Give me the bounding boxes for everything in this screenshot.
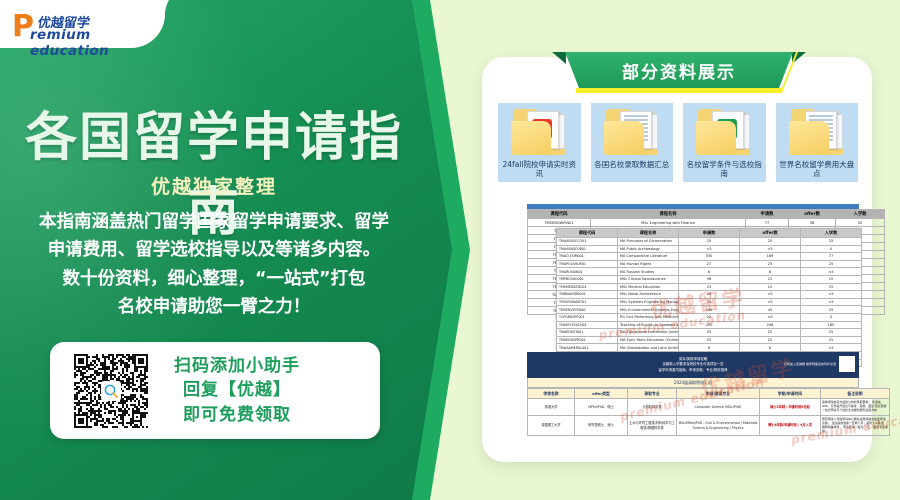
table-cell: 25 — [801, 306, 862, 314]
table-cell: MSc Environmental Systems Engineering — [618, 306, 679, 314]
table-cell: 博士4年制/申请时间 / 9月入学 — [760, 415, 821, 436]
qr-code[interactable] — [74, 354, 148, 428]
table-cell: 25 — [679, 313, 740, 321]
table-cell: <5 — [801, 268, 862, 276]
table-row: 帝国理工大学研究型硕士、博士土木与环境工程类/材料科学与工程类/物理科学类MSc… — [528, 415, 890, 436]
table-cell: 25 — [679, 336, 740, 344]
table-row: TMAEDUSTA01MA Educational Leadership (In… — [557, 329, 862, 337]
table-cell: 25 — [740, 336, 801, 344]
table-row: TMSMEDSEDU01MSc Medical Education252525 — [557, 283, 862, 291]
spreadsheet-admissions: 英本/英硕申请攻略 含最新入学要求及院校专业可选项目一览 留学申请避坑指南、申请… — [527, 352, 859, 436]
column-header: offer数 — [789, 210, 836, 219]
folder-item[interactable]: P24fall院校申请实时资讯 — [498, 103, 581, 182]
table-cell: 45 — [740, 306, 801, 314]
table-cell: Computer Science (MSc/PhD) — [677, 399, 760, 416]
table-cell: MA Comparative Literature — [618, 253, 679, 261]
table-cell: <5 — [740, 313, 801, 321]
table-cell: 6 — [740, 344, 801, 352]
table-row: TMAARUSFCO01MA Principles of Conservatio… — [557, 238, 862, 246]
qr-line-3: 即可免费领取 — [174, 403, 300, 427]
table-cell: <5 — [801, 291, 862, 299]
mini-qr-icon — [839, 356, 855, 372]
table-cell: 25 — [679, 329, 740, 337]
table-cell: 540 — [679, 306, 740, 314]
column-header: 申请数 — [679, 229, 740, 238]
table-cell: 25 — [740, 238, 801, 246]
table-cell: 56 — [679, 275, 740, 283]
folder-label: 名校留学条件与选校指南 — [685, 160, 763, 178]
table-cell: TMSMEDSEDU01 — [557, 283, 618, 291]
column-header: 入学数 — [836, 210, 885, 219]
table-cell: 22 — [740, 275, 801, 283]
table-cell: 38 — [789, 219, 836, 227]
table-cell: TMAEFLTEACH01 — [557, 321, 618, 329]
column-header: 申请/就读专业 — [677, 389, 760, 399]
table-cell: 0 — [801, 245, 862, 253]
table-header-row: 学校名称offer类型录取专业申请/就读专业学制/申请时间备注说明 — [528, 389, 890, 399]
table-cell: <5 — [740, 245, 801, 253]
body-copy-line: 申请费用、留学选校指导以及等诸多内容。 — [8, 236, 420, 264]
table-header-row: 课程代码课程名称申请数offer数入学数 — [557, 229, 862, 238]
table-cell: <5 — [740, 291, 801, 299]
table-cell: TMPBCSNO001 — [557, 275, 618, 283]
wechat-logo-icon — [101, 381, 121, 401]
table-cell: 研究型硕士、博士 — [575, 415, 628, 436]
table-cell: 25 — [679, 238, 740, 246]
table-cell: TMSENVSYM001 — [557, 306, 618, 314]
table-cell: <5 — [801, 344, 862, 352]
folder-label: 各国名校录取数据汇总 — [593, 160, 671, 169]
folder-icon — [789, 109, 845, 157]
table-cell: MA Globalisation and Latin American Deve… — [618, 344, 679, 352]
qr-line-1: 扫码添加小助手 — [174, 354, 300, 378]
folder-list: P24fall院校申请实时资讯各国名校录取数据汇总S名校留学条件与选校指南世界名… — [498, 103, 858, 182]
qr-card[interactable]: 扫码添加小助手 回复【优越】 即可免费领取 — [50, 342, 380, 439]
column-header: offer数 — [740, 229, 801, 238]
table-row: TMAPOLSHUR01MA Human Rights272525 — [557, 260, 862, 268]
table-cell: 0 — [801, 313, 862, 321]
table-row: TMBNAVSRB001MSc Naval Architecture28<5<5 — [557, 291, 862, 299]
table-row: TMSSYSWANT01MSc Systems Engineering Mana… — [557, 298, 862, 306]
body-copy-line: 名校申请助您一臂之力！ — [8, 293, 420, 321]
table-row: TMSENGWFIN01MSc Engineering with Finance… — [528, 219, 885, 227]
body-copy-line: 本指南涵盖热门留学国家留学申请要求、留学 — [8, 208, 420, 236]
body-copy: 本指南涵盖热门留学国家留学申请要求、留学 申请费用、留学选校指导以及等诸多内容。… — [8, 208, 420, 321]
admissions-banner: 英本/英硕申请攻略 含最新入学要求及院校专业可选项目一览 留学申请避坑指南、申请… — [527, 352, 859, 378]
table-cell: TMAPOLSHUR01 — [557, 260, 618, 268]
table-cell: 298 — [740, 321, 801, 329]
table-cell: 25 — [801, 238, 862, 246]
column-header: 课程名称 — [618, 229, 679, 238]
table-cell: TMSSYSWANT01 — [557, 298, 618, 306]
section-title-ribbon: 部分资料展示 — [565, 52, 793, 88]
table-row: TMSENVSYM001MSc Environmental Systems En… — [557, 306, 862, 314]
table-cell: 25 — [740, 283, 801, 291]
table-cell: MSc Medical Education — [618, 283, 679, 291]
table-row: TMAEDUSPR001MA Early Years Education (On… — [557, 336, 862, 344]
table-cell: <5 — [740, 298, 801, 306]
table-cell: MSc Naval Architecture — [618, 291, 679, 299]
table-cell: TMARUSSIN01 — [557, 268, 618, 276]
qr-instructions: 扫码添加小助手 回复【优越】 即可免费领取 — [174, 354, 300, 426]
table-cell: 15 — [801, 275, 862, 283]
folder-label: 世界名校留学费用大盘点 — [778, 160, 856, 178]
table-cell: MA Public Archaeology — [618, 245, 679, 253]
brand-logo: P 优越留学 remium education — [12, 10, 152, 46]
folder-icon — [604, 109, 660, 157]
table-cell: 25 — [801, 260, 862, 268]
table-cell: <5 — [679, 245, 740, 253]
admissions-banner-line: 留学申请避坑指南、申请流程、专业/院校推荐 — [659, 368, 728, 373]
table-cell: 25 — [740, 260, 801, 268]
folder-item[interactable]: 各国名校录取数据汇总 — [591, 103, 674, 182]
admissions-banner-side: 扫码加入咨询群 留学预备名校同步交流 — [784, 356, 855, 372]
table-cell: MSc Clinical Neuroscience — [618, 275, 679, 283]
table-cell: MA Human Rights — [618, 260, 679, 268]
table-cell: 帝国理工大学 — [528, 415, 575, 436]
table-cell: 34 — [679, 298, 740, 306]
table-cell: 6 — [679, 344, 740, 352]
column-header: 申请数 — [746, 210, 789, 219]
table-cell: 25 — [801, 283, 862, 291]
column-header: 备注说明 — [821, 389, 890, 399]
table-cell: 所有申请人须在申请中心网站注册并提交在线申请表格， 建议提前准备一至两个月；需附… — [821, 415, 890, 436]
folder-item[interactable]: S名校留学条件与选校指南 — [683, 103, 766, 182]
column-header: 课程名称 — [591, 210, 746, 219]
admissions-title: 2024届录取院校汇总 — [527, 378, 859, 388]
table-row: TMPBCSNO001MSc Clinical Neuroscience5622… — [557, 275, 862, 283]
table-row: TMAAAMERSLA01MA Globalisation and Latin … — [557, 344, 862, 352]
table-cell: TCPGBDSPF001 — [557, 313, 618, 321]
table-cell: 硕士2年制 / 申请时间9月起 — [760, 399, 821, 416]
column-header: 学校名称 — [528, 389, 575, 399]
page-subtitle: 优越独家整理 — [0, 172, 428, 199]
table-row: TMARUSSIN01MA Russian Studies66<5 — [557, 268, 862, 276]
table-cell: TMAO-TSIM001 — [557, 253, 618, 261]
folder-icon: S — [696, 109, 752, 157]
table-cell: MA Principles of Conservation — [618, 238, 679, 246]
table-cell: TMAEDUSTA01 — [557, 329, 618, 337]
table-cell: PG Cert Performing Arts Medicine (Online… — [618, 313, 679, 321]
table-cell: MSc/MRes/PhD - Civil & Environmental / M… — [677, 415, 760, 436]
column-header: 入学数 — [801, 229, 862, 238]
table-cell: MA Russian Studies — [618, 268, 679, 276]
table-cell: 25 — [740, 329, 801, 337]
table-cell: TMBNAVSRB001 — [557, 291, 618, 299]
table-cell: 28 — [679, 291, 740, 299]
table-cell: 25 — [679, 283, 740, 291]
table-cell: 27 — [679, 260, 740, 268]
column-header: 学制/申请时间 — [760, 389, 821, 399]
body-copy-line: 数十份资料，细心整理，“一站式”打包 — [8, 265, 420, 293]
table-cell: 25 — [801, 336, 862, 344]
table-cell: 490 — [679, 321, 740, 329]
column-header: 录取专业 — [628, 389, 677, 399]
column-header: 课程代码 — [528, 210, 591, 219]
table-row: TMAEFLTEACH01Teaching of English to Spea… — [557, 321, 862, 329]
logo-english-name: remium education — [30, 27, 152, 59]
table-row: TMAO-TSIM001MA Comparative Literature350… — [557, 253, 862, 261]
table-cell: 6 — [679, 268, 740, 276]
table-cell: TMAEDUSPR001 — [557, 336, 618, 344]
table-cell: TMSENGWFIN01 — [528, 219, 591, 227]
table-cell: 77 — [801, 253, 862, 261]
table-row: TCPGBDSPF001PG Cert Performing Arts Medi… — [557, 313, 862, 321]
table-row: 香港大学MPhil/PhD、硕士计算机科学类Computer Science (… — [528, 399, 890, 416]
table-cell: MSc Engineering with Finance — [591, 219, 746, 227]
table-cell: 77 — [746, 219, 789, 227]
folder-label: 24fall院校申请实时资讯 — [500, 160, 578, 178]
table-cell: TMAAAMERSLA01 — [557, 344, 618, 352]
table-cell: 25 — [801, 329, 862, 337]
table-cell: TMAARUSFCO01 — [557, 238, 618, 246]
table-cell: 香港大学 — [528, 399, 575, 416]
column-header: 课程代码 — [557, 229, 618, 238]
table-cell: Teaching of English to Speakers of Other… — [618, 321, 679, 329]
poster-root: P 优越留学 remium education 各国留学申请指南 优越独家整理 … — [0, 0, 900, 500]
table-cell: 20 — [836, 219, 885, 227]
table-header-row: 课程代码课程名称申请数offer数入学数 — [528, 210, 885, 219]
column-header: offer类型 — [575, 389, 628, 399]
table-cell: 6 — [740, 268, 801, 276]
table-cell: MSc Systems Engineering Management — [618, 298, 679, 306]
folder-icon: P — [511, 109, 567, 157]
table-cell: MA Educational Leadership (International… — [618, 329, 679, 337]
spreadsheet-courses: 课程代码课程名称申请数offer数入学数TMAARUSFCO01MA Princ… — [556, 228, 862, 367]
admissions-side-note: 扫码加入咨询群 留学预备名校同步交流 — [784, 362, 836, 366]
qr-line-2: 回复【优越】 — [174, 378, 300, 402]
table-cell: MA Early Years Education (Online) — [618, 336, 679, 344]
table-cell: 350 — [679, 253, 740, 261]
table-cell: MPhil/PhD、硕士 — [575, 399, 628, 416]
table-cell: 189 — [740, 253, 801, 261]
folder-item[interactable]: 世界名校留学费用大盘点 — [776, 103, 859, 182]
table-cell: TMAARUSFUB01 — [557, 245, 618, 253]
table-cell: 需参考院校官方最新公布的录取要求； 含语言、GPA、背景提升建议与备考、选校、面… — [821, 399, 890, 416]
table-cell: 计算机科学类 — [628, 399, 677, 416]
table-cell: 180 — [801, 321, 862, 329]
table-row: TMAARUSFUB01MA Public Archaeology<5<50 — [557, 245, 862, 253]
table-cell: <5 — [801, 298, 862, 306]
table-cell: 土木与环境工程类/材料科学与工程类/物理科学类 — [628, 415, 677, 436]
